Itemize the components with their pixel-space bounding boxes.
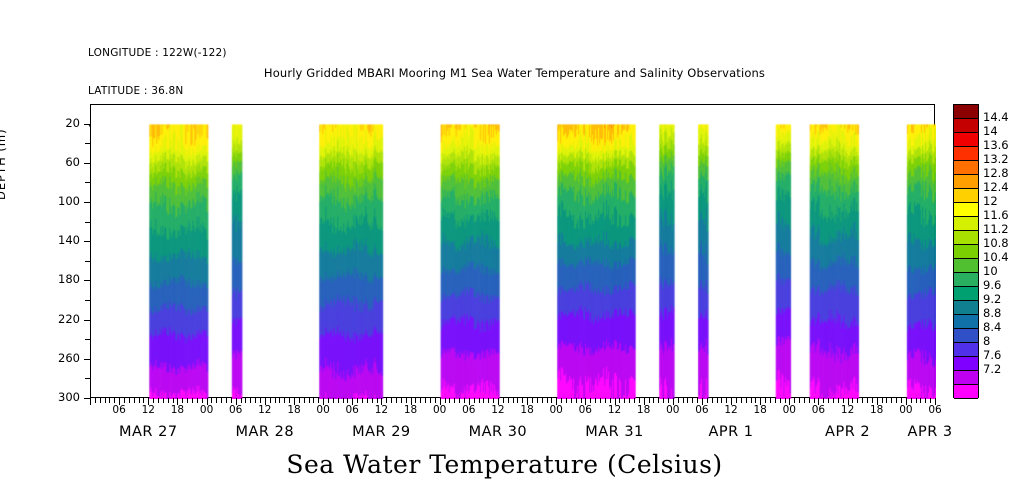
x-axis-tick xyxy=(721,398,722,403)
colorbar-swatch xyxy=(954,189,978,203)
y-axis-tick xyxy=(84,202,90,203)
x-axis-tick xyxy=(678,398,679,403)
x-axis-tick xyxy=(406,398,407,403)
x-axis-tick xyxy=(916,398,917,403)
x-axis-tick xyxy=(765,398,766,403)
x-axis-tick xyxy=(425,398,426,403)
colorbar-tick-label: 7.6 xyxy=(983,348,1001,362)
y-axis-tick xyxy=(84,359,90,360)
x-axis-tick xyxy=(362,398,363,403)
x-axis-tick xyxy=(129,398,130,403)
colorbar-tick-label: 12 xyxy=(983,194,998,208)
x-axis-tick xyxy=(692,398,693,403)
colorbar-swatch xyxy=(954,287,978,301)
x-axis-tick xyxy=(192,398,193,403)
x-axis-tick xyxy=(537,398,538,403)
y-axis-label: 60 xyxy=(36,155,80,169)
colorbar-swatch xyxy=(954,105,978,119)
x-axis-tick xyxy=(911,398,912,403)
x-axis-tick xyxy=(90,398,91,405)
x-axis-tick xyxy=(343,398,344,403)
y-axis-tick xyxy=(84,398,90,399)
x-axis-tick xyxy=(241,398,242,403)
y-axis-title: DEPTH (m) xyxy=(0,128,8,200)
x-axis-tick xyxy=(299,398,300,403)
colorbar-tick-label: 12.8 xyxy=(983,166,1009,180)
x-axis-tick xyxy=(746,398,747,403)
y-axis-label: 260 xyxy=(36,351,80,365)
x-axis-tick xyxy=(872,398,873,403)
y-axis-tick xyxy=(84,241,90,242)
colorbar-swatch xyxy=(954,147,978,161)
x-axis-tick xyxy=(309,398,310,403)
x-axis-tick xyxy=(415,398,416,403)
x-axis-tick xyxy=(838,398,839,403)
x-axis-tick xyxy=(882,398,883,403)
x-axis-tick xyxy=(420,398,421,403)
colorbar-swatch xyxy=(954,371,978,385)
x-axis-tick xyxy=(707,398,708,403)
x-axis-tick xyxy=(566,398,567,403)
x-axis-tick xyxy=(357,398,358,403)
x-axis-tick xyxy=(658,398,659,403)
y-axis-tick xyxy=(84,320,90,321)
x-axis-tick xyxy=(211,398,212,403)
temperature-contour-canvas xyxy=(91,105,936,399)
colorbar-tick-label: 10.4 xyxy=(983,250,1009,264)
colorbar-tick-label: 8.8 xyxy=(983,306,1001,320)
x-axis-tick xyxy=(712,398,713,403)
x-axis-tick xyxy=(619,398,620,403)
x-axis-tick xyxy=(143,398,144,403)
colorbar-tick-label: 12.4 xyxy=(983,180,1009,194)
x-axis-tick xyxy=(367,398,368,403)
x-axis-tick xyxy=(755,398,756,403)
x-axis-tick xyxy=(231,398,232,403)
x-axis-tick xyxy=(182,398,183,403)
colorbar-swatch xyxy=(954,175,978,189)
latitude-text: LATITUDE : 36.8N xyxy=(88,85,227,98)
x-axis-tick xyxy=(571,398,572,403)
x-axis-tick xyxy=(886,398,887,403)
x-axis-tick xyxy=(547,398,548,403)
x-axis-tick xyxy=(163,398,164,403)
x-axis-tick xyxy=(532,398,533,403)
colorbar-swatch xyxy=(954,357,978,371)
colorbar-tick-label: 13.6 xyxy=(983,138,1009,152)
colorbar-tick-label: 10 xyxy=(983,264,998,278)
x-axis-tick xyxy=(785,398,786,403)
x-axis-tick xyxy=(109,398,110,403)
x-axis-tick xyxy=(483,398,484,403)
colorbar-swatch xyxy=(954,119,978,133)
x-axis-tick xyxy=(823,398,824,403)
x-axis-tick xyxy=(445,398,446,403)
x-axis-tick xyxy=(479,398,480,403)
x-axis-tick xyxy=(435,398,436,403)
y-axis-minor-tick xyxy=(85,300,90,301)
colorbar-tick-label: 11.2 xyxy=(983,222,1009,236)
colorbar-swatch xyxy=(954,133,978,147)
chart-title: Hourly Gridded MBARI Mooring M1 Sea Wate… xyxy=(0,66,1009,80)
x-axis-tick xyxy=(187,398,188,403)
colorbar-tick-label: 8 xyxy=(983,334,990,348)
colorbar-swatch xyxy=(954,161,978,175)
x-axis-tick xyxy=(517,398,518,403)
x-axis-tick xyxy=(459,398,460,403)
colorbar-tick-label: 14.4 xyxy=(983,110,1009,124)
x-axis-tick xyxy=(508,398,509,403)
x-axis-tick xyxy=(522,398,523,403)
colorbar-swatch xyxy=(954,259,978,273)
y-axis-minor-tick xyxy=(85,182,90,183)
x-axis-tick xyxy=(197,398,198,403)
x-axis-tick xyxy=(561,398,562,403)
x-axis-tick xyxy=(595,398,596,403)
x-axis-tick xyxy=(275,398,276,403)
y-axis-label: 180 xyxy=(36,272,80,286)
x-axis-tick xyxy=(833,398,834,403)
x-axis-tick xyxy=(751,398,752,403)
x-axis-tick xyxy=(925,398,926,403)
x-axis-tick xyxy=(396,398,397,403)
x-axis-tick xyxy=(649,398,650,403)
x-axis-tick xyxy=(216,398,217,403)
y-axis-minor-tick xyxy=(85,143,90,144)
x-axis-tick xyxy=(153,398,154,403)
y-axis-label: 140 xyxy=(36,233,80,247)
x-axis-tick xyxy=(697,398,698,403)
x-axis-tick xyxy=(896,398,897,403)
colorbar-tick-label: 8.4 xyxy=(983,320,1001,334)
colorbar-swatch xyxy=(954,245,978,259)
x-axis-tick xyxy=(372,398,373,403)
x-axis-tick xyxy=(857,398,858,403)
x-axis-tick xyxy=(809,398,810,403)
x-axis-tick xyxy=(391,398,392,403)
x-axis-tick xyxy=(202,398,203,403)
chart-title-text: Hourly Gridded MBARI Mooring M1 Sea Wate… xyxy=(244,66,765,80)
x-axis-tick xyxy=(687,398,688,403)
y-axis-tick xyxy=(84,163,90,164)
longitude-text: LONGITUDE : 122W(-122) xyxy=(88,47,227,60)
x-axis-tick xyxy=(284,398,285,403)
x-axis-tick xyxy=(804,398,805,403)
colorbar-swatch xyxy=(954,273,978,287)
x-axis-tick xyxy=(245,398,246,403)
x-axis-tick xyxy=(867,398,868,403)
x-axis-tick xyxy=(114,398,115,403)
x-axis-tick xyxy=(741,398,742,403)
x-axis-tick xyxy=(576,398,577,403)
colorbar-swatch xyxy=(954,385,978,399)
colorbar-tick-label: 7.2 xyxy=(983,362,1001,376)
x-axis-tick xyxy=(105,398,106,403)
x-axis-tick xyxy=(173,398,174,403)
x-axis-tick xyxy=(600,398,601,403)
colorbar-tick-label: 10.8 xyxy=(983,236,1009,250)
x-axis-tick xyxy=(338,398,339,403)
plot-area xyxy=(90,104,935,398)
x-axis-tick xyxy=(503,398,504,403)
y-axis-minor-tick xyxy=(85,222,90,223)
x-axis-tick xyxy=(920,398,921,403)
x-axis-tick xyxy=(221,398,222,403)
x-axis-day-label: APR 3 xyxy=(860,424,1000,440)
colorbar-tick-label: 13.2 xyxy=(983,152,1009,166)
x-axis-tick xyxy=(775,398,776,403)
x-axis-tick xyxy=(255,398,256,403)
colorbar-swatch xyxy=(954,217,978,231)
x-axis-tick xyxy=(551,398,552,403)
x-axis-tick xyxy=(624,398,625,403)
x-axis-tick xyxy=(852,398,853,403)
y-axis-label: 300 xyxy=(36,390,80,404)
colorbar xyxy=(953,104,979,398)
y-axis-tick xyxy=(84,280,90,281)
y-axis-tick xyxy=(84,124,90,125)
colorbar-tick-label: 9.6 xyxy=(983,278,1001,292)
x-axis-tick xyxy=(668,398,669,403)
x-axis-tick xyxy=(901,398,902,403)
x-axis-tick xyxy=(717,398,718,403)
colorbar-tick-label: 14 xyxy=(983,124,998,138)
x-axis-tick xyxy=(770,398,771,403)
x-axis-tick xyxy=(493,398,494,403)
x-axis-tick xyxy=(513,398,514,403)
x-axis-tick xyxy=(891,398,892,403)
x-axis-tick xyxy=(464,398,465,403)
x-axis-tick xyxy=(430,398,431,403)
x-axis-tick xyxy=(590,398,591,403)
y-axis-minor-tick xyxy=(85,378,90,379)
x-axis-tick xyxy=(313,398,314,403)
x-axis-tick xyxy=(347,398,348,403)
x-axis-tick xyxy=(799,398,800,403)
x-axis-tick xyxy=(780,398,781,403)
x-axis-tick xyxy=(828,398,829,403)
colorbar-swatch xyxy=(954,343,978,357)
x-axis-tick xyxy=(95,398,96,403)
y-axis-minor-tick xyxy=(85,339,90,340)
x-axis-tick xyxy=(124,398,125,403)
x-axis-tick xyxy=(158,398,159,403)
bottom-title: Sea Water Temperature (Celsius) xyxy=(0,450,1009,479)
x-axis-tick xyxy=(386,398,387,403)
x-axis-tick xyxy=(401,398,402,403)
x-axis-tick xyxy=(134,398,135,403)
x-axis-tick xyxy=(100,398,101,403)
x-axis-tick xyxy=(736,398,737,403)
x-axis-tick xyxy=(726,398,727,403)
y-axis-label: 100 xyxy=(36,194,80,208)
colorbar-swatch xyxy=(954,203,978,217)
colorbar-tick-label: 9.2 xyxy=(983,292,1001,306)
x-axis-tick xyxy=(663,398,664,403)
x-axis-tick xyxy=(930,398,931,403)
x-axis-tick xyxy=(304,398,305,403)
x-axis-tick xyxy=(279,398,280,403)
x-axis-tick xyxy=(610,398,611,403)
x-axis-tick xyxy=(454,398,455,403)
x-axis-tick xyxy=(634,398,635,403)
x-axis-tick xyxy=(653,398,654,403)
y-axis-label: 220 xyxy=(36,312,80,326)
colorbar-swatch xyxy=(954,301,978,315)
x-axis-tick xyxy=(605,398,606,403)
x-axis-hour-label: 06 xyxy=(915,404,955,416)
x-axis-tick xyxy=(862,398,863,403)
x-axis-tick xyxy=(139,398,140,403)
x-axis-tick xyxy=(474,398,475,403)
x-axis-tick xyxy=(794,398,795,403)
x-axis-tick xyxy=(449,398,450,403)
y-axis-minor-tick xyxy=(85,261,90,262)
x-axis-tick xyxy=(639,398,640,403)
x-axis-tick xyxy=(289,398,290,403)
x-axis-tick xyxy=(226,398,227,403)
colorbar-swatch xyxy=(954,329,978,343)
x-axis-tick xyxy=(328,398,329,403)
x-axis-tick xyxy=(270,398,271,403)
colorbar-swatch xyxy=(954,315,978,329)
x-axis-tick xyxy=(318,398,319,403)
x-axis-tick xyxy=(542,398,543,403)
x-axis-tick xyxy=(333,398,334,403)
x-axis-tick xyxy=(581,398,582,403)
x-axis-tick xyxy=(843,398,844,403)
x-axis-tick xyxy=(168,398,169,403)
colorbar-tick-label: 11.6 xyxy=(983,208,1009,222)
x-axis-tick xyxy=(683,398,684,403)
y-axis-label: 20 xyxy=(36,116,80,130)
x-axis-tick xyxy=(814,398,815,403)
x-axis-tick xyxy=(260,398,261,403)
x-axis-tick xyxy=(629,398,630,403)
x-axis-tick xyxy=(250,398,251,403)
colorbar-swatch xyxy=(954,231,978,245)
x-axis-tick xyxy=(488,398,489,403)
x-axis-tick xyxy=(377,398,378,403)
